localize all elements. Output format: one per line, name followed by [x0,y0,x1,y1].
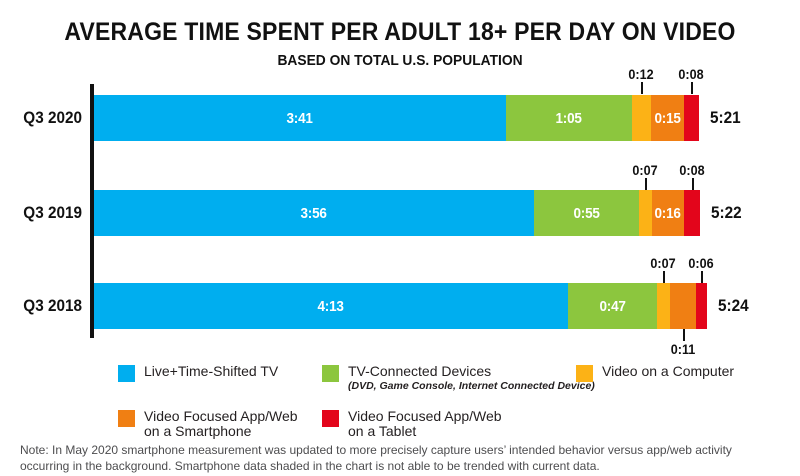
legend-item[interactable]: TV-Connected Devices(DVD, Game Console, … [322,364,595,393]
legend-label: TV-Connected Devices [348,364,595,379]
legend-swatch [576,365,593,382]
bar-segment: 0:16 [652,190,684,236]
segment-callout-tick [641,82,643,94]
legend-swatch [118,410,135,427]
segment-callout-label: 0:07 [645,255,681,271]
bar-segment: 0:47 [568,283,657,329]
stacked-bar: 4:130:47 [94,283,707,329]
chart-container: AVERAGE TIME SPENT PER ADULT 18+ PER DAY… [0,0,800,476]
legend-label: Video Focused App/Web on a Smartphone [144,409,298,439]
category-label: Q3 2020 [8,95,82,141]
segment-callout-label: 0:07 [627,162,663,178]
bar-row: Q3 20203:411:050:155:21 [0,95,800,141]
category-label: Q3 2018 [8,283,82,329]
bar-total-label: 5:22 [711,190,742,236]
legend-item[interactable]: Video on a Computer [576,364,734,382]
segment-callout-tick [645,178,647,190]
segment-callout-label: 0:11 [665,341,701,357]
segment-callout-label: 0:06 [683,255,719,271]
bar-row: Q3 20193:560:550:165:22 [0,190,800,236]
legend-item[interactable]: Video Focused App/Web on a Tablet [322,409,502,439]
bar-segment-value: 0:16 [655,205,681,222]
bar-segment-value: 3:56 [301,205,327,222]
segment-callout-label: 0:08 [673,66,709,82]
segment-callout-tick [692,178,694,190]
chart-title: AVERAGE TIME SPENT PER ADULT 18+ PER DAY… [32,18,768,47]
bar-segment-value: 0:15 [654,110,680,127]
legend-item[interactable]: Live+Time-Shifted TV [118,364,278,382]
stacked-bar: 3:411:050:15 [94,95,699,141]
bar-segment: 0:55 [534,190,639,236]
legend-sublabel: (DVD, Game Console, Internet Connected D… [348,380,595,393]
bar-segment-value: 3:41 [287,110,313,127]
segment-callout-tick [683,329,685,341]
legend-swatch [118,365,135,382]
bar-segment-value: 0:47 [599,298,625,315]
bar-segment [684,95,699,141]
legend-swatch [322,410,339,427]
legend-label: Video Focused App/Web on a Tablet [348,409,502,439]
legend-swatch [322,365,339,382]
bar-segment: 3:56 [94,190,534,236]
bar-total-label: 5:21 [710,95,741,141]
bar-segment-value: 4:13 [318,298,344,315]
segment-callout-tick [691,82,693,94]
bar-segment [684,190,700,236]
bar-segment [657,283,670,329]
bar-total-label: 5:24 [718,283,749,329]
bar-segment: 1:05 [506,95,632,141]
bar-row: Q3 20184:130:475:24 [0,283,800,329]
bar-segment [632,95,651,141]
bar-segment-value: 1:05 [556,110,582,127]
legend-label: Video on a Computer [602,364,734,379]
segment-callout-label: 0:12 [623,66,659,82]
category-label: Q3 2019 [8,190,82,236]
legend-label: Live+Time-Shifted TV [144,364,278,379]
bar-segment [696,283,707,329]
bar-segment: 4:13 [94,283,568,329]
bar-segment: 0:15 [651,95,684,141]
stacked-bar: 3:560:550:16 [94,190,700,236]
segment-callout-tick [663,271,665,283]
footnote: Note: In May 2020 smartphone measurement… [20,443,782,474]
segment-callout-label: 0:08 [674,162,710,178]
bar-segment: 3:41 [94,95,506,141]
legend-item[interactable]: Video Focused App/Web on a Smartphone [118,409,298,439]
segment-callout-tick [701,271,703,283]
bar-segment-value: 0:55 [573,205,599,222]
bar-segment [670,283,696,329]
bar-segment [639,190,652,236]
